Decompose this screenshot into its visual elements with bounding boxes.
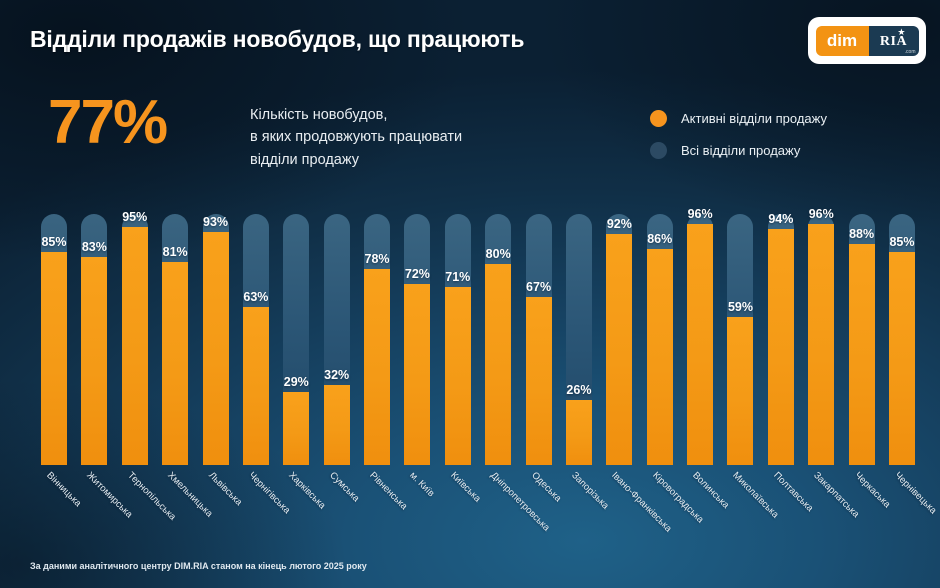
bar-group[interactable]: 63%Чернігівська — [243, 214, 269, 465]
bar-value-label: 80% — [486, 247, 511, 261]
bar-fill-active — [283, 392, 309, 465]
bar-group[interactable]: 88%Черкаська — [849, 214, 875, 465]
bar-category-label: Запорізька — [569, 470, 611, 512]
bar-category-label: м. Київ — [408, 470, 437, 499]
bar-fill-active — [526, 297, 552, 465]
bar-category-label: Вінницька — [44, 470, 83, 509]
bar-group[interactable]: 83%Житомирська — [81, 214, 107, 465]
bar-fill-active — [162, 262, 188, 465]
bar-group[interactable]: 92%Івано-Франківська — [606, 214, 632, 465]
bar-group[interactable]: 71%Київська — [445, 214, 471, 465]
bar-value-label: 78% — [365, 252, 390, 266]
bar-fill-active — [849, 244, 875, 465]
bar-fill-active — [445, 287, 471, 465]
bar-group[interactable]: 32%Сумська — [324, 214, 350, 465]
bar-value-label: 71% — [445, 270, 470, 284]
bar-fill-active — [808, 224, 834, 465]
bar-fill-active — [122, 227, 148, 465]
bar-fill-active — [566, 400, 592, 465]
bar-value-label: 96% — [809, 207, 834, 221]
bar-group[interactable]: 26%Запорізька — [566, 214, 592, 465]
bar-category-label: Полтавська — [771, 470, 815, 514]
bar-value-label: 32% — [324, 368, 349, 382]
bar-value-label: 95% — [122, 210, 147, 224]
bar-category-label: Львівська — [206, 470, 244, 508]
bar-value-label: 94% — [768, 212, 793, 226]
bar-value-label: 81% — [163, 245, 188, 259]
bar-category-label: Рівненська — [367, 470, 409, 512]
bar-fill-active — [243, 307, 269, 465]
bar-group[interactable]: 81%Хмельницька — [162, 214, 188, 465]
bar-group[interactable]: 86%Кіровоградська — [647, 214, 673, 465]
bar-group[interactable]: 67%Одеська — [526, 214, 552, 465]
bar-group[interactable]: 85%Чернівецька — [889, 214, 915, 465]
bar-fill-active — [364, 269, 390, 465]
bar-fill-active — [647, 249, 673, 465]
bar-fill-active — [81, 257, 107, 465]
bar-fill-active — [41, 252, 67, 465]
bar-value-label: 26% — [566, 383, 591, 397]
bar-group[interactable]: 59%Миколаївська — [727, 214, 753, 465]
bar-fill-active — [404, 284, 430, 465]
bar-group[interactable]: 96%Волинська — [687, 214, 713, 465]
bar-fill-active — [768, 229, 794, 465]
bar-fill-active — [324, 385, 350, 465]
bar-group[interactable]: 95%Тернопільська — [122, 214, 148, 465]
bar-value-label: 93% — [203, 215, 228, 229]
bar-category-label: Волинська — [690, 470, 731, 511]
bar-chart: 85%Вінницька83%Житомирська95%Тернопільсь… — [0, 0, 940, 588]
bar-value-label: 92% — [607, 217, 632, 231]
bar-group[interactable]: 85%Вінницька — [41, 214, 67, 465]
bar-category-label: Одеська — [529, 470, 563, 504]
bar-group[interactable]: 96%Закарпатська — [808, 214, 834, 465]
bar-fill-active — [606, 234, 632, 465]
bar-category-label: Київська — [448, 470, 482, 504]
bar-value-label: 83% — [82, 240, 107, 254]
bar-value-label: 59% — [728, 300, 753, 314]
bar-group[interactable]: 29%Харківська — [283, 214, 309, 465]
bar-value-label: 72% — [405, 267, 430, 281]
footer-note: За даними аналітичного центру DIM.RIA ст… — [30, 561, 367, 571]
bar-fill-active — [727, 317, 753, 465]
bar-fill-active — [687, 224, 713, 465]
bar-value-label: 96% — [688, 207, 713, 221]
bar-group[interactable]: 94%Полтавська — [768, 214, 794, 465]
bar-category-label: Чернівецька — [892, 470, 938, 516]
infographic-page: Відділи продажів новобудов, що працюють … — [0, 0, 940, 588]
bar-value-label: 88% — [849, 227, 874, 241]
bar-fill-active — [889, 252, 915, 465]
bar-value-label: 85% — [41, 235, 66, 249]
bar-group[interactable]: 80%Дніпропетровська — [485, 214, 511, 465]
bar-value-label: 29% — [284, 375, 309, 389]
bar-group[interactable]: 72%м. Київ — [404, 214, 430, 465]
bar-fill-active — [203, 232, 229, 465]
bar-fill-active — [485, 264, 511, 465]
bar-value-label: 86% — [647, 232, 672, 246]
bar-group[interactable]: 93%Львівська — [203, 214, 229, 465]
bar-value-label: 67% — [526, 280, 551, 294]
bar-category-label: Черкаська — [852, 470, 892, 510]
bar-category-label: Харківська — [287, 470, 328, 511]
bar-category-label: Сумська — [327, 470, 361, 504]
bar-value-label: 85% — [889, 235, 914, 249]
bar-group[interactable]: 78%Рівненська — [364, 214, 390, 465]
bar-value-label: 63% — [243, 290, 268, 304]
